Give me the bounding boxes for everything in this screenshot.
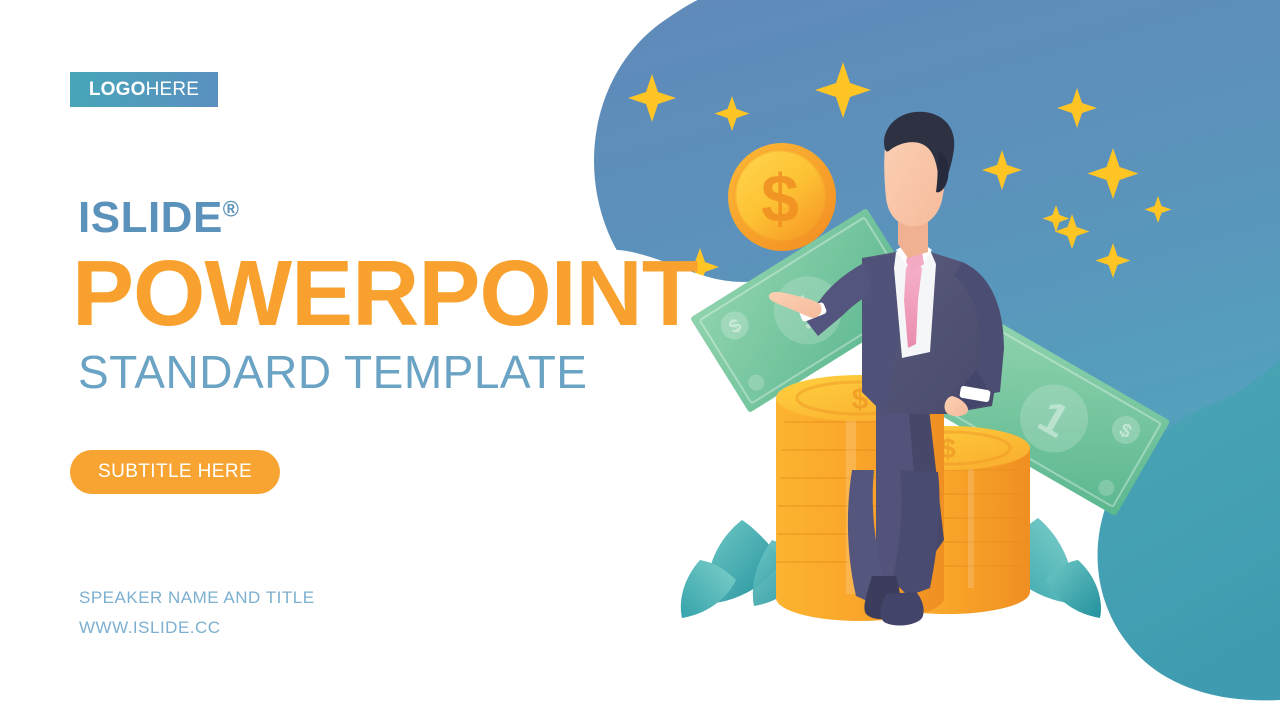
website-text[interactable]: WWW.ISLIDE.CC bbox=[79, 613, 315, 643]
footer-block: SPEAKER NAME AND TITLE WWW.ISLIDE.CC bbox=[79, 583, 315, 644]
brand-name-text: ISLIDE bbox=[78, 193, 223, 242]
subtitle-button[interactable]: SUBTITLE HERE bbox=[70, 450, 280, 494]
subtitle-button-label: SUBTITLE HERE bbox=[98, 461, 252, 483]
brand-name: ISLIDE® bbox=[78, 196, 758, 240]
page-title: POWERPOINT bbox=[72, 246, 758, 341]
logo-strong-text: LOGO bbox=[89, 79, 146, 101]
speaker-name-text: SPEAKER NAME AND TITLE bbox=[79, 583, 315, 613]
page-subtitle: STANDARD TEMPLATE bbox=[78, 349, 758, 395]
logo-light-text: HERE bbox=[146, 79, 200, 101]
registered-trademark-icon: ® bbox=[223, 196, 240, 221]
svg-text:$: $ bbox=[761, 161, 799, 237]
logo-placeholder[interactable]: LOGOHERE bbox=[70, 72, 218, 107]
title-slide: 1 $ 1 $ bbox=[0, 0, 1280, 720]
title-text-block: ISLIDE® POWERPOINT STANDARD TEMPLATE bbox=[78, 196, 758, 395]
